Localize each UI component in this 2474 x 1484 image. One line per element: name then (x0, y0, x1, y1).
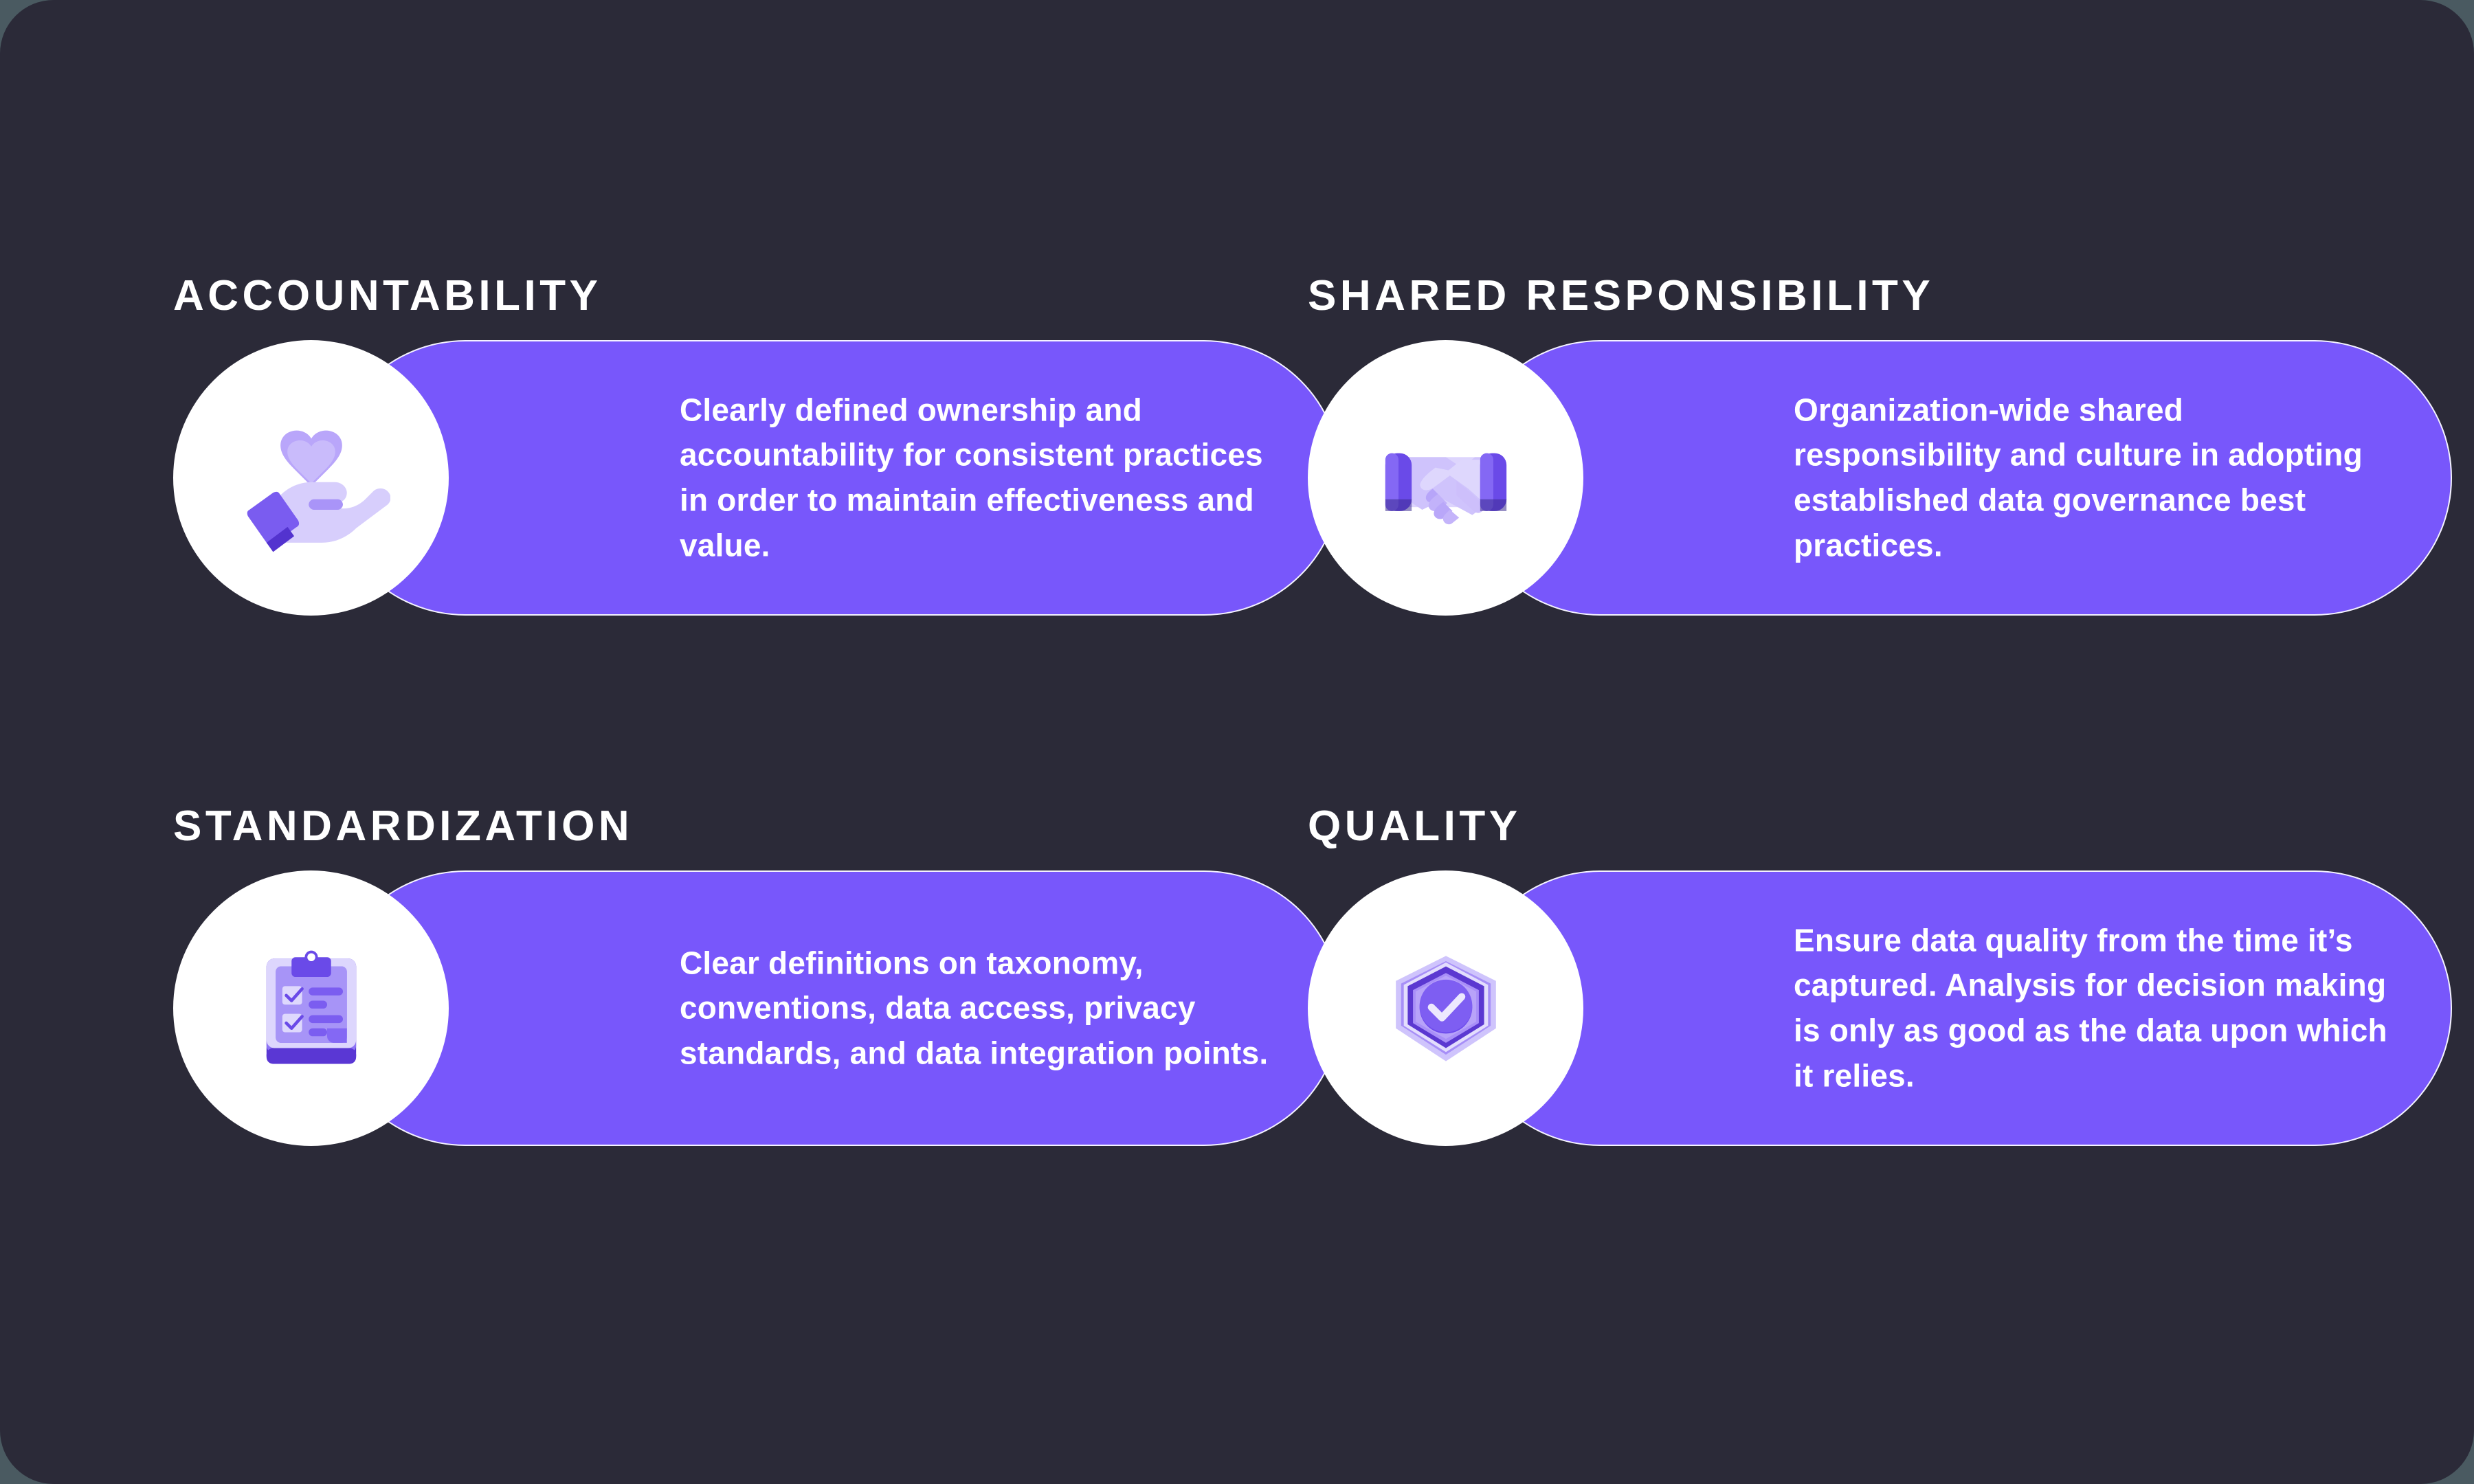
icon-circle-accountability (173, 340, 449, 616)
cards-grid: ACCOUNTABILITY Clearly defined ownership… (0, 0, 2474, 1484)
card-heading-accountability: ACCOUNTABILITY (173, 275, 601, 317)
card-heading-quality: QUALITY (1308, 805, 1522, 848)
clipboard-checklist-icon (232, 930, 390, 1088)
hand-holding-heart-icon (232, 399, 390, 557)
icon-circle-standardization (173, 870, 449, 1146)
pill-accountability: Clearly defined ownership and accountabi… (328, 340, 1341, 616)
card-heading-standardization: STANDARDIZATION (173, 805, 633, 848)
pill-quality: Ensure data quality from the time it’s c… (1462, 870, 2452, 1146)
card-body-standardization: Clear definitions on taxonomy, conventio… (680, 941, 1298, 1076)
handshake-icon (1367, 399, 1525, 557)
card-body-shared-responsibility: Organization-wide shared responsibility … (1794, 387, 2385, 568)
card-heading-shared-responsibility: SHARED RESPONSIBILITY (1308, 275, 1934, 317)
icon-circle-quality (1308, 870, 1583, 1146)
icon-circle-shared-responsibility (1308, 340, 1583, 616)
pill-standardization: Clear definitions on taxonomy, conventio… (328, 870, 1341, 1146)
card-body-accountability: Clearly defined ownership and accountabi… (680, 387, 1284, 568)
pill-shared-responsibility: Organization-wide shared responsibility … (1462, 340, 2452, 616)
shield-check-icon (1367, 930, 1525, 1088)
infographic-panel: ACCOUNTABILITY Clearly defined ownership… (0, 0, 2474, 1484)
card-body-quality: Ensure data quality from the time it’s c… (1794, 918, 2398, 1099)
